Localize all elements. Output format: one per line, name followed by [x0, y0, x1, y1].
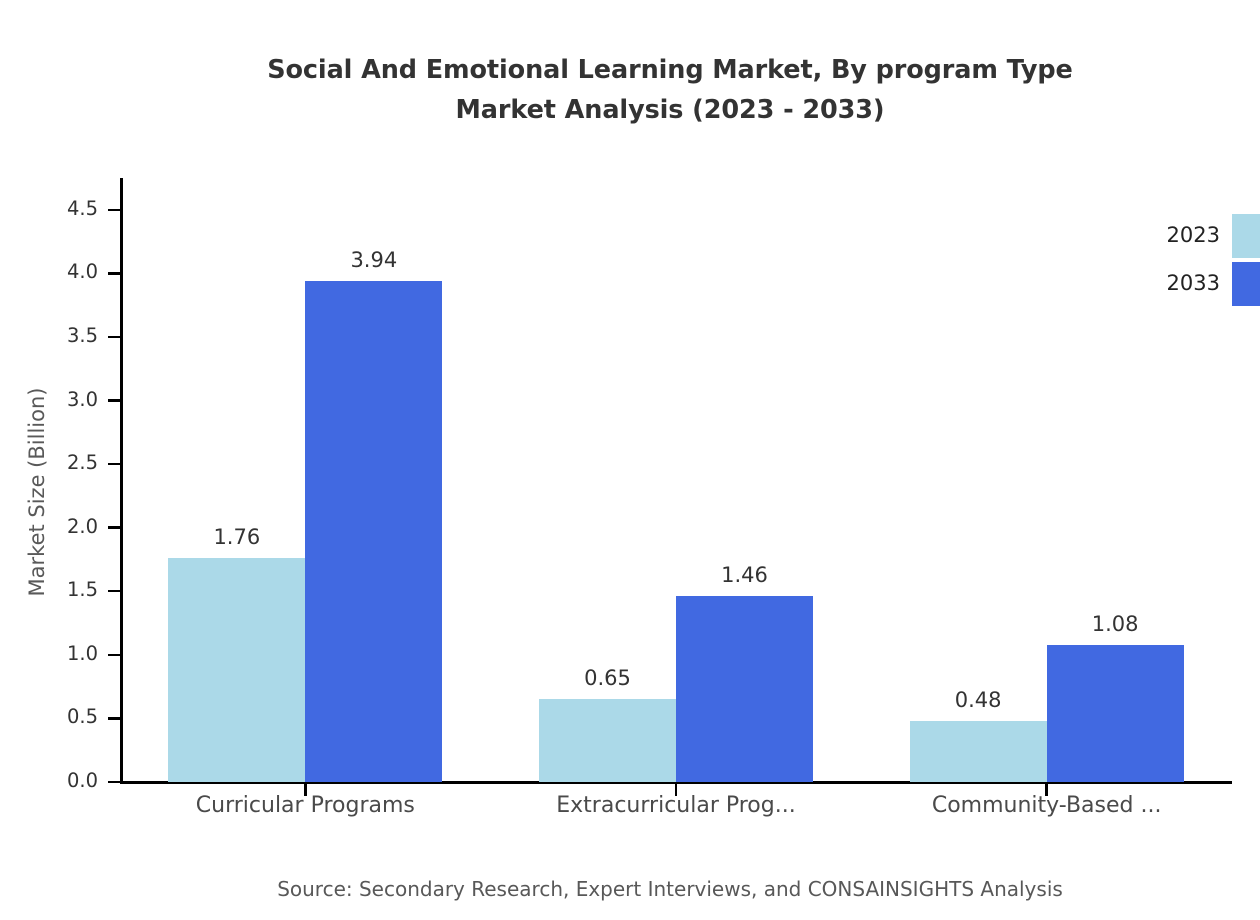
y-axis-label: Market Size (Billion) [25, 212, 49, 772]
y-axis-tick [108, 654, 121, 656]
legend-swatch [1232, 214, 1260, 258]
bar-value-label: 1.08 [1015, 612, 1215, 636]
legend-item-2023[interactable]: 2023 [1108, 214, 1260, 262]
legend-swatch [1232, 262, 1260, 306]
source-note: Source: Secondary Research, Expert Inter… [0, 877, 1260, 901]
chart-title-line-2: Market Analysis (2023 - 2033) [0, 90, 1260, 130]
y-axis-tick-label: 2.0 [34, 515, 98, 538]
bar-value-label: 3.94 [274, 248, 474, 272]
y-axis-tick [108, 526, 121, 528]
y-axis-tick-label: 1.5 [34, 578, 98, 601]
legend-label: 2023 [1108, 223, 1220, 247]
y-axis-tick [108, 590, 121, 592]
y-axis-tick-label: 2.5 [34, 451, 98, 474]
chart-legend: 20232033 [1108, 214, 1260, 310]
y-axis-tick [108, 399, 121, 401]
bar-value-label: 1.46 [645, 563, 845, 587]
y-axis-tick [108, 272, 121, 274]
bar-2033-0[interactable] [305, 281, 442, 782]
legend-item-2033[interactable]: 2033 [1108, 262, 1260, 310]
y-axis-spine [120, 178, 123, 784]
bar-2023-2[interactable] [910, 721, 1047, 782]
legend-label: 2033 [1108, 271, 1220, 295]
y-axis-tick-label: 4.5 [34, 197, 98, 220]
chart-title-line-1: Social And Emotional Learning Market, By… [0, 50, 1260, 90]
chart-figure: Social And Emotional Learning Market, By… [0, 0, 1260, 920]
y-axis-tick-label: 1.0 [34, 642, 98, 665]
x-axis-tick-label: Curricular Programs [105, 793, 505, 818]
y-axis-tick-label: 3.0 [34, 388, 98, 411]
y-axis-tick-label: 4.0 [34, 260, 98, 283]
y-axis-tick [108, 209, 121, 211]
bar-2033-1[interactable] [676, 596, 813, 782]
bar-2033-2[interactable] [1047, 645, 1184, 782]
y-axis-tick [108, 463, 121, 465]
x-axis-tick-label: Extracurricular Prog... [476, 793, 876, 818]
bar-2023-0[interactable] [168, 558, 305, 782]
y-axis-tick [108, 336, 121, 338]
x-axis-tick-label: Community-Based ... [847, 793, 1247, 818]
bar-2023-1[interactable] [539, 699, 676, 782]
y-axis-tick-label: 0.0 [34, 769, 98, 792]
y-axis-tick [108, 717, 121, 719]
y-axis-tick [108, 781, 121, 783]
y-axis-tick-label: 0.5 [34, 705, 98, 728]
chart-title: Social And Emotional Learning Market, By… [0, 50, 1260, 130]
y-axis-tick-label: 3.5 [34, 324, 98, 347]
